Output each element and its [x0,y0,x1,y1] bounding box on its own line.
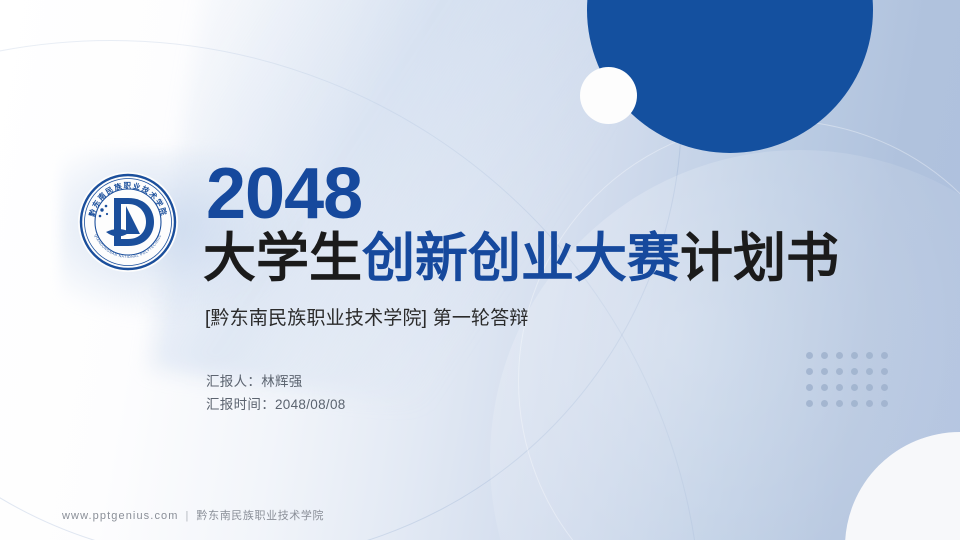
title-segment-1: 大学生 [203,229,362,288]
page-title: 大学生创新创业大赛计划书 [203,229,839,288]
footer-organization: 黔东南民族职业技术学院 [197,510,325,522]
decor-dot-grid [806,352,896,416]
decor-large-white-circle [845,432,960,540]
decor-arc-lower-left [0,40,702,540]
presentation-meta: 汇报人：林辉强 汇报时间：2048/08/08 [206,370,346,416]
decor-dot [866,352,873,359]
decor-dot [806,368,813,375]
slide-subtitle: [黔东南民族职业技术学院] 第一轮答辩 [205,303,529,330]
title-slide: 黔东南民族职业技术学院 QIANDONGNAN NATIONAL POLYTEC… [0,0,960,540]
title-segment-accent: 创新创业大赛 [362,229,680,288]
decor-dot [866,384,873,391]
decor-dot [881,352,888,359]
slide-year: 2048 [206,158,362,230]
decor-small-white-circle [580,67,637,124]
decor-dot [821,352,828,359]
decor-dot [806,384,813,391]
report-date-line: 汇报时间：2048/08/08 [206,393,346,416]
decor-dot [806,400,813,407]
decor-dot [836,352,843,359]
school-logo: 黔东南民族职业技术学院 QIANDONGNAN NATIONAL POLYTEC… [76,170,180,274]
slide-footer: www.pptgenius.com|黔东南民族职业技术学院 [62,507,324,523]
decor-dot [821,400,828,407]
decor-dot [866,368,873,375]
footer-separator: | [186,510,190,522]
decor-swoosh [490,150,960,540]
footer-website: www.pptgenius.com [62,510,179,522]
decor-dot [821,384,828,391]
decor-dot [881,384,888,391]
decor-blue-circle [587,0,873,153]
decor-dot [806,352,813,359]
decor-dot [851,352,858,359]
decor-dot [851,384,858,391]
decor-dot [881,368,888,375]
decor-dot [836,368,843,375]
title-segment-3: 计划书 [680,229,839,288]
presenter-line: 汇报人：林辉强 [206,370,346,393]
decor-dot [881,400,888,407]
decor-dot [821,368,828,375]
decor-dot [866,400,873,407]
decor-dot [836,384,843,391]
decor-dot [851,400,858,407]
decor-dot [851,368,858,375]
decor-dot [836,400,843,407]
decor-swoosh-outline [518,120,960,540]
